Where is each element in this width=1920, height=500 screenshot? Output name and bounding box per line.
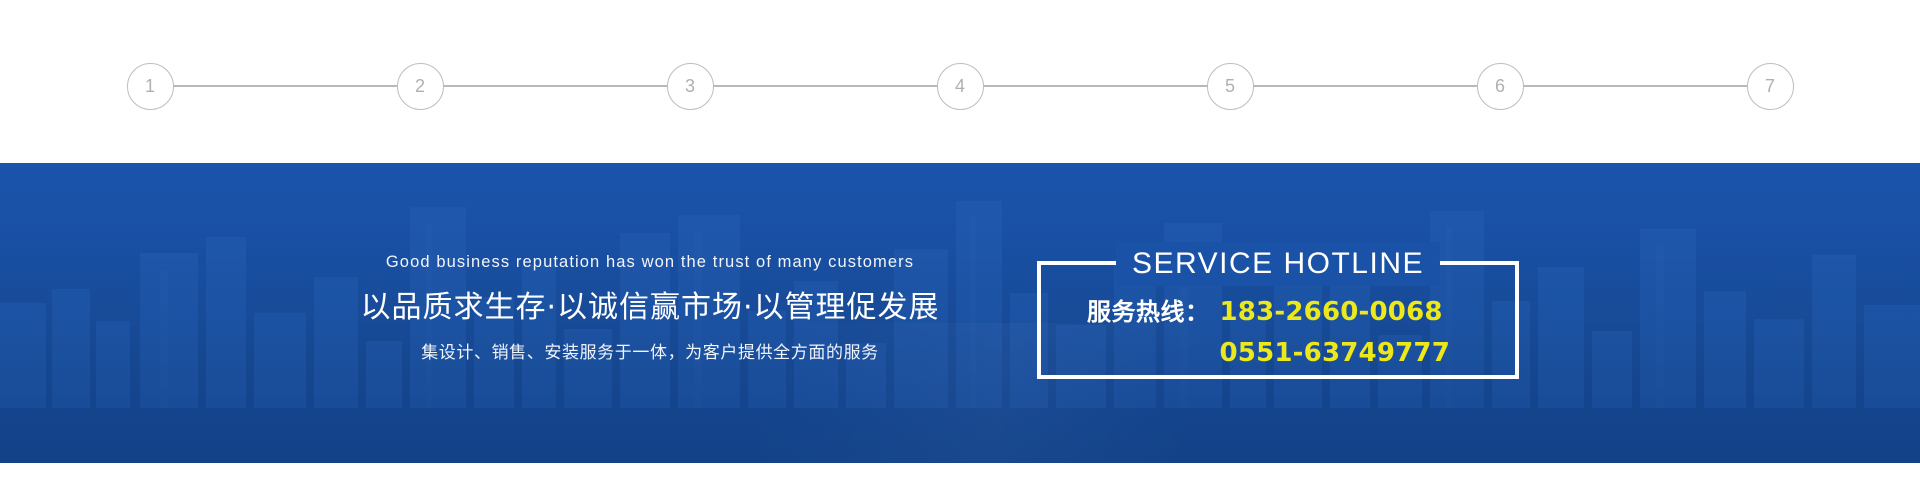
service-hotline-title: SERVICE HOTLINE	[1116, 242, 1440, 286]
step-node-2[interactable]: 2	[397, 63, 444, 110]
hotline-row-secondary: 服务热线： 0551-63749777	[1087, 334, 1515, 373]
bottom-white-strip	[0, 463, 1920, 500]
hotline-number-list: 服务热线： 183-2660-0068 服务热线： 0551-63749777	[1041, 293, 1515, 373]
slogan-chinese-subline: 集设计、销售、安装服务于一体，为客户提供全方面的服务	[300, 343, 1000, 364]
step-node-6[interactable]: 6	[1477, 63, 1524, 110]
hotline-label: 服务热线：	[1087, 294, 1210, 330]
hotline-number-mobile[interactable]: 183-2660-0068	[1220, 293, 1443, 332]
step-node-label: 7	[1765, 77, 1775, 95]
hotline-row-primary: 服务热线： 183-2660-0068	[1087, 293, 1515, 332]
service-hotline-box: SERVICE HOTLINE 服务热线： 183-2660-0068 服务热线…	[1037, 261, 1519, 379]
step-node-label: 5	[1225, 77, 1235, 95]
step-node-label: 2	[415, 77, 425, 95]
step-node-5[interactable]: 5	[1207, 63, 1254, 110]
slogan-block: Good business reputation has won the tru…	[300, 253, 1000, 365]
slogan-chinese-headline: 以品质求生存·以诚信赢市场·以管理促发展	[300, 289, 1000, 327]
step-node-label: 6	[1495, 77, 1505, 95]
page-root: 1 2 3 4 5 6 7	[0, 0, 1920, 500]
step-node-label: 3	[685, 77, 695, 95]
hotline-number-landline[interactable]: 0551-63749777	[1220, 334, 1450, 373]
step-node-label: 1	[145, 77, 155, 95]
step-node-3[interactable]: 3	[667, 63, 714, 110]
slogan-english-line: Good business reputation has won the tru…	[300, 253, 1000, 273]
step-node-label: 4	[955, 77, 965, 95]
step-node-1[interactable]: 1	[127, 63, 174, 110]
step-node-7[interactable]: 7	[1747, 63, 1794, 110]
step-progress-bar: 1 2 3 4 5 6 7	[0, 0, 1920, 163]
promo-banner: Good business reputation has won the tru…	[0, 163, 1920, 463]
step-node-4[interactable]: 4	[937, 63, 984, 110]
